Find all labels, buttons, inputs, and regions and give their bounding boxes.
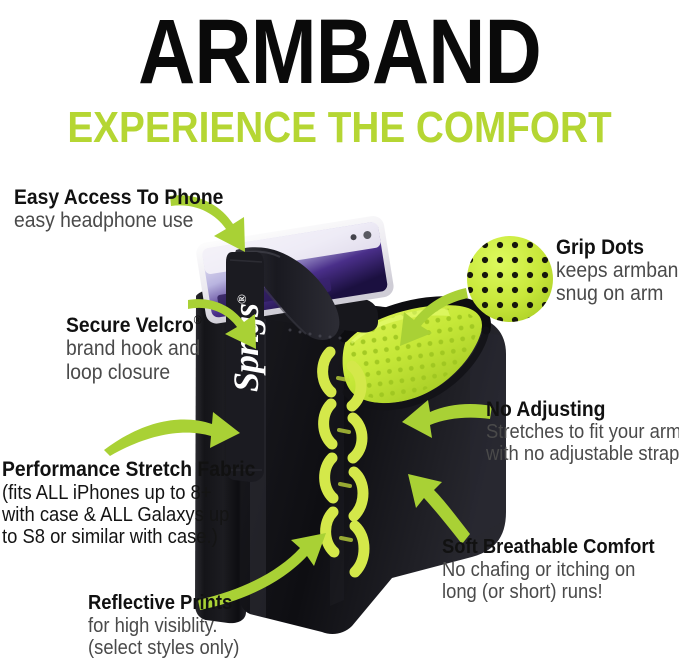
callout-reflective-heading: Reflective Prints xyxy=(88,592,239,615)
registered-mark-icon: ® xyxy=(194,315,202,327)
callout-easy-access: Easy Access To Phone easy headphone use xyxy=(14,186,242,232)
callout-secure-velcro: Secure Velcro® brand hook and loop closu… xyxy=(66,310,213,385)
callout-performance-stretch-fabric: Performance Stretch Fabric (fits ALL iPh… xyxy=(2,458,277,548)
callout-easy-access-heading: Easy Access To Phone xyxy=(14,186,223,209)
callout-no-adjusting-heading: No Adjusting xyxy=(486,398,679,421)
arrow-soft-comfort xyxy=(408,474,470,544)
callout-secure-velcro-line-2: loop closure xyxy=(66,361,202,385)
callout-grip-dots-line-1: keeps armband xyxy=(556,259,679,282)
callout-grip-dots-line-2: snug on arm xyxy=(556,282,679,305)
page-subtitle: EXPERIENCE THE COMFORT xyxy=(41,104,639,152)
callout-grip-dots-heading: Grip Dots xyxy=(556,236,679,259)
arrow-no-adjusting xyxy=(402,400,492,438)
callout-easy-access-line-1: easy headphone use xyxy=(14,209,223,232)
callout-grip-dots: Grip Dots keeps armband snug on arm xyxy=(556,236,679,305)
callout-performance-line-3: to S8 or similar with case.) xyxy=(2,526,255,548)
callout-performance-line-1: (fits ALL iPhones up to 8+ xyxy=(2,482,255,504)
page-title: ARMBAND xyxy=(48,4,632,100)
infographic-canvas: ARMBAND EXPERIENCE THE COMFORT xyxy=(0,0,679,664)
callout-soft-line-1: No chafing or itching on xyxy=(442,559,655,581)
grip-dots-detail-circle xyxy=(462,231,562,331)
svg-text:Sprigs®: Sprigs® xyxy=(226,294,266,392)
arrow-grip-dots xyxy=(400,288,468,346)
callout-soft-line-2: long (or short) runs! xyxy=(442,581,655,603)
callout-no-adjusting: No Adjusting Stretches to fit your arm w… xyxy=(486,398,679,465)
callout-reflective-line-2: (select styles only) xyxy=(88,637,239,659)
callout-no-adjusting-line-1: Stretches to fit your arm xyxy=(486,421,679,443)
callout-secure-velcro-heading: Secure Velcro® xyxy=(66,310,202,337)
callout-soft-breathable-comfort: Soft Breathable Comfort No chafing or it… xyxy=(442,536,673,603)
brand-logo: Sprigs® xyxy=(226,294,266,392)
callout-no-adjusting-line-2: with no adjustable straps xyxy=(486,443,679,465)
callout-performance-heading: Performance Stretch Fabric xyxy=(2,458,255,482)
callout-reflective-prints: Reflective Prints for high visiblity. (s… xyxy=(88,592,253,659)
reflective-prints-marks xyxy=(323,352,364,572)
callout-reflective-line-1: for high visiblity. xyxy=(88,615,239,637)
arrow-performance-fabric xyxy=(104,412,240,456)
callout-soft-heading: Soft Breathable Comfort xyxy=(442,536,655,559)
callout-secure-velcro-line-1: brand hook and xyxy=(66,337,202,361)
callout-performance-line-2: with case & ALL Galaxys up xyxy=(2,504,255,526)
